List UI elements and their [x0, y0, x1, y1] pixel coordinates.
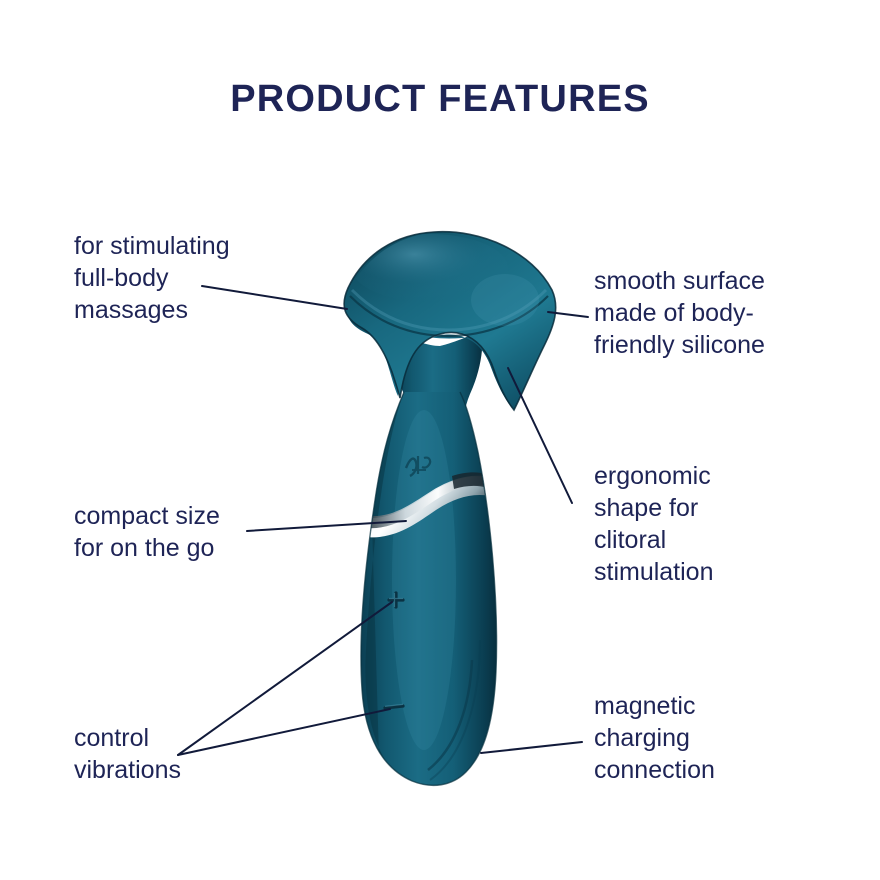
callout-label-ergonomic-shape: ergonomic shape for clitoral stimulation [594, 460, 844, 588]
head-highlight-2 [471, 274, 539, 326]
product-features-infographic: PRODUCT FEATURES [0, 0, 880, 880]
callout-label-full-body-massages: for stimulating full-body massages [74, 230, 324, 326]
callout-label-magnetic-charging: magnetic charging connection [594, 690, 844, 786]
callout-label-compact-size: compact size for on the go [74, 500, 324, 564]
body-highlight [392, 410, 456, 750]
callout-label-control-vibrations: control vibrations [74, 722, 324, 786]
callout-label-smooth-surface: smooth surface made of body- friendly si… [594, 265, 854, 361]
